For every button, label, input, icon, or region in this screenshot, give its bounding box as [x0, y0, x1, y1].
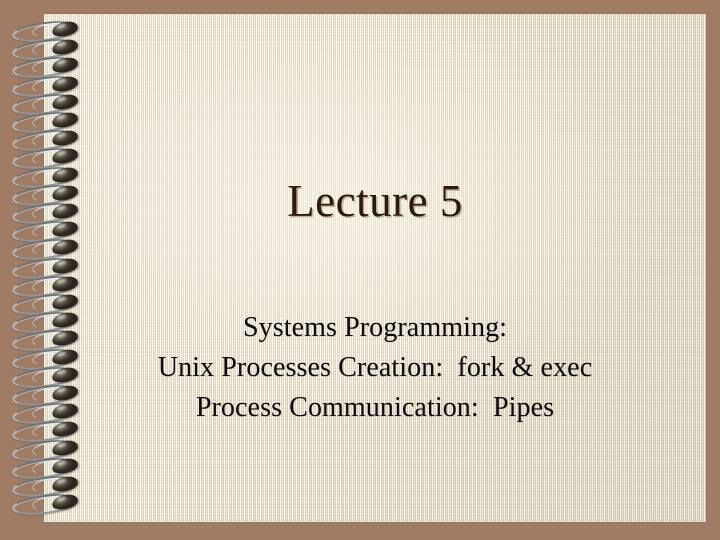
- body-line-1: Systems Programming:: [44, 308, 706, 348]
- body-line-3: Process Communication: Pipes: [44, 388, 706, 428]
- slide-body: Systems Programming: Unix Processes Crea…: [44, 308, 706, 427]
- slide-title-text: Lecture 5: [287, 178, 463, 225]
- notebook-paper: [44, 14, 706, 522]
- body-line-2: Unix Processes Creation: fork & exec: [44, 348, 706, 388]
- slide-canvas: Lecture 5 Systems Programming: Unix Proc…: [0, 0, 720, 540]
- slide-title: Lecture 5: [44, 178, 706, 225]
- paper-sheen-overlay: [44, 14, 706, 522]
